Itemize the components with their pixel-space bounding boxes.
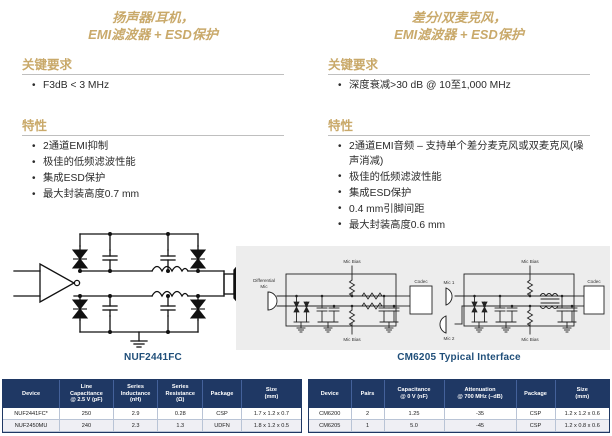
- cell-capacitance: 1.25: [384, 408, 444, 420]
- cell-attenuation: -35: [444, 408, 516, 420]
- cell-size: 1.2 x 1.2 x 0.6: [555, 408, 609, 420]
- th-series-resistance: Series Resistance (Ω): [158, 380, 203, 408]
- left-features-section: 特性 2通道EMI抑制 极佳的低频滤波性能 集成ESD保护 最大封装高度0.7 …: [22, 115, 284, 203]
- cell-size: 1.2 x 0.8 x 0.6: [555, 420, 609, 432]
- right-spec-table: Device Pairs Capacitance @ 0 V (nF) Atte…: [309, 380, 609, 432]
- list-item: 极佳的低频滤波性能: [32, 156, 284, 171]
- left-column: 扬声器/耳机， EMI滤波器 + ESD保护 关键要求 F3dB < 3 MHz…: [0, 0, 306, 436]
- cell-package: CSP: [516, 408, 555, 420]
- th-line-capacitance: Line Capacitance @ 2.5 V (pF): [60, 380, 114, 408]
- th-package: Package: [203, 380, 242, 408]
- th-device: Device: [3, 380, 60, 408]
- list-item: 深度衰减>30 dB @ 10至1,000 MHz: [338, 79, 590, 94]
- right-spec-table-wrapper: Device Pairs Capacitance @ 0 V (nF) Atte…: [308, 379, 610, 433]
- left-title-line1: 扬声器/耳机，: [112, 10, 194, 25]
- list-item: 最大封装高度0.6 mm: [338, 219, 590, 234]
- left-key-requirements-heading: 关键要求: [22, 54, 284, 75]
- left-features-list: 2通道EMI抑制 极佳的低频滤波性能 集成ESD保护 最大封装高度0.7 mm: [32, 140, 284, 203]
- left-spacer: [0, 95, 306, 104]
- right-diagram-caption: CM6205 Typical Interface: [306, 352, 612, 363]
- left-title-line2: EMI滤波器 + ESD保护: [0, 26, 306, 43]
- list-item: 2通道EMI抑制: [32, 140, 284, 155]
- left-features-heading: 特性: [22, 115, 284, 136]
- cell-package: UDFN: [203, 420, 242, 432]
- th-package: Package: [516, 380, 555, 408]
- list-item: F3dB < 3 MHz: [32, 79, 284, 94]
- left-key-requirements-list: F3dB < 3 MHz: [32, 79, 284, 94]
- right-column: 差分/双麦克风， EMI滤波器 + ESD保护 关键要求 深度衰减>30 dB …: [306, 0, 612, 436]
- right-title-line1: 差分/双麦克风，: [412, 10, 507, 25]
- cell-pairs: 1: [351, 420, 384, 432]
- right-features-section: 特性 2通道EMI音频 – 支持单个差分麦克风或双麦克风(噪声消减) 极佳的低频…: [328, 115, 590, 233]
- cell-series-inductance: 2.3: [113, 420, 158, 432]
- th-attenuation: Attenuation @ 700 MHz (–dB): [444, 380, 516, 408]
- table-row: NUF2441FC* 250 2.9 0.28 CSP 1.7 x 1.2 x …: [3, 408, 301, 420]
- left-spec-table-wrapper: Device Line Capacitance @ 2.5 V (pF) Ser…: [2, 379, 302, 433]
- list-item: 集成ESD保护: [338, 187, 590, 202]
- cell-size: 1.7 x 1.2 x 0.7: [241, 408, 301, 420]
- th-series-inductance: Series Inductance (nH): [113, 380, 158, 408]
- left-spec-table: Device Line Capacitance @ 2.5 V (pF) Ser…: [3, 380, 301, 432]
- right-key-requirements-heading: 关键要求: [328, 54, 590, 75]
- cell-size: 1.8 x 1.2 x 0.5: [241, 420, 301, 432]
- cell-series-resistance: 0.28: [158, 408, 203, 420]
- cell-line-capacitance: 250: [60, 408, 114, 420]
- right-key-requirements-section: 关键要求 深度衰减>30 dB @ 10至1,000 MHz: [328, 54, 590, 94]
- th-capacitance: Capacitance @ 0 V (nF): [384, 380, 444, 408]
- table-row: CM6200 2 1.25 -35 CSP 1.2 x 1.2 x 0.6: [309, 408, 609, 420]
- left-key-requirements-section: 关键要求 F3dB < 3 MHz: [22, 54, 284, 94]
- cell-device: CM6205: [309, 420, 351, 432]
- right-title-line2: EMI滤波器 + ESD保护: [306, 26, 612, 43]
- right-key-requirements-list: 深度衰减>30 dB @ 10至1,000 MHz: [338, 79, 590, 94]
- list-item: 集成ESD保护: [32, 172, 284, 187]
- table-row: NUF2450MU 240 2.3 1.3 UDFN 1.8 x 1.2 x 0…: [3, 420, 301, 432]
- cell-series-inductance: 2.9: [113, 408, 158, 420]
- right-features-heading: 特性: [328, 115, 590, 136]
- list-item: 0.4 mm引脚间距: [338, 203, 590, 218]
- cell-package: CSP: [203, 408, 242, 420]
- cell-device: CM6200: [309, 408, 351, 420]
- cell-series-resistance: 1.3: [158, 420, 203, 432]
- table-row: CM6205 1 5.0 -45 CSP 1.2 x 0.8 x 0.6: [309, 420, 609, 432]
- left-diagram-caption: NUF2441FC: [0, 352, 306, 363]
- list-item: 最大封装高度0.7 mm: [32, 188, 284, 203]
- left-circuit-diagram: [2, 228, 302, 356]
- th-size: Size (mm): [555, 380, 609, 408]
- cell-capacitance: 5.0: [384, 420, 444, 432]
- list-item: 极佳的低频滤波性能: [338, 171, 590, 186]
- th-device: Device: [309, 380, 351, 408]
- cell-device: NUF2441FC*: [3, 408, 60, 420]
- cell-line-capacitance: 240: [60, 420, 114, 432]
- cell-attenuation: -45: [444, 420, 516, 432]
- list-item: 2通道EMI音频 – 支持单个差分麦克风或双麦克风(噪声消减): [338, 140, 590, 169]
- cell-package: CSP: [516, 420, 555, 432]
- table-header-row: Device Pairs Capacitance @ 0 V (nF) Atte…: [309, 380, 609, 408]
- th-pairs: Pairs: [351, 380, 384, 408]
- cell-device: NUF2450MU: [3, 420, 60, 432]
- right-title: 差分/双麦克风， EMI滤波器 + ESD保护: [306, 0, 612, 43]
- cell-pairs: 2: [351, 408, 384, 420]
- th-size: Size (mm): [241, 380, 301, 408]
- table-header-row: Device Line Capacitance @ 2.5 V (pF) Ser…: [3, 380, 301, 408]
- left-title: 扬声器/耳机， EMI滤波器 + ESD保护: [0, 0, 306, 43]
- right-spacer: [306, 95, 612, 104]
- right-features-list: 2通道EMI音频 – 支持单个差分麦克风或双麦克风(噪声消减) 极佳的低频滤波性…: [338, 140, 590, 233]
- slide-page: 扬声器/耳机， EMI滤波器 + ESD保护 关键要求 F3dB < 3 MHz…: [0, 0, 612, 436]
